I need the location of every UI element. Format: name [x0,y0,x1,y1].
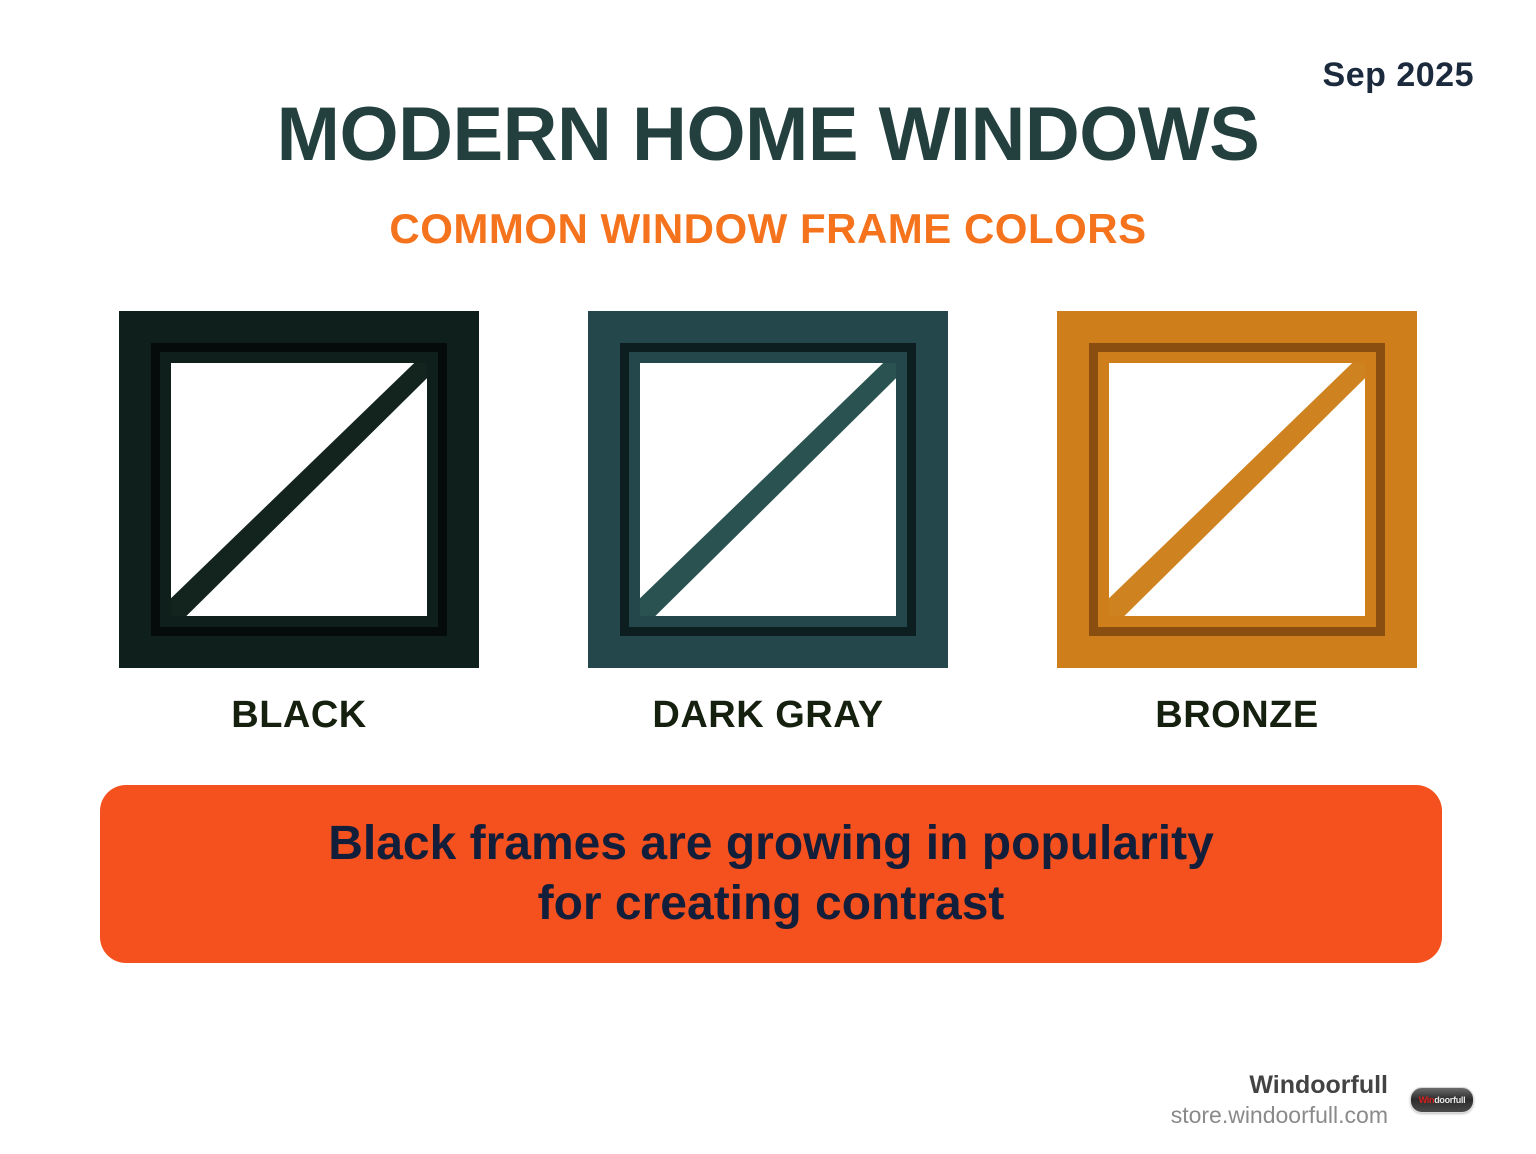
frame-label: DARK GRAY [652,694,883,737]
brand-logo-mark-accent: Win [1419,1095,1435,1105]
callout-line-2: for creating contrast [538,877,1005,930]
brand-logo-badge: Windoorfull [1410,1087,1474,1113]
brand-logo-mark: Windoorfull [1419,1096,1466,1105]
frame-sash [1105,359,1369,620]
diagonal-mullion-icon [171,363,427,616]
frame-sash [636,359,900,620]
diagonal-mullion-icon [640,363,896,616]
glass-pane [1109,363,1365,616]
frame-card-bronze: BRONZE [1057,311,1417,737]
glass-pane [640,363,896,616]
window-frame-icon [119,311,479,668]
frame-card-dark-gray: DARK GRAY [588,311,948,737]
brand-logo-mark-rest: doorfull [1434,1095,1465,1105]
frame-groove [151,343,447,636]
page-subtitle: COMMON WINDOW FRAME COLORS [0,206,1536,252]
glass-pane [171,363,427,616]
brand-name: Windoorfull [1171,1070,1388,1100]
frame-groove [1089,343,1385,636]
brand-url[interactable]: store.windoorfull.com [1171,1100,1388,1130]
page-title: MODERN HOME WINDOWS [0,94,1536,176]
diagonal-mullion-icon [1109,363,1365,616]
footer-text: Windoorfull store.windoorfull.com [1171,1070,1388,1130]
window-frame-icon [588,311,948,668]
frame-label: BRONZE [1155,694,1318,737]
callout-text: Black frames are growing in popularity f… [288,814,1254,934]
callout-banner: Black frames are growing in popularity f… [100,785,1442,963]
frame-groove [620,343,916,636]
callout-line-1: Black frames are growing in popularity [328,817,1214,870]
frame-card-black: BLACK [119,311,479,737]
frame-sash [167,359,431,620]
frame-label: BLACK [231,694,366,737]
date-stamp: Sep 2025 [1323,56,1474,95]
window-frame-icon [1057,311,1417,668]
footer-branding: Windoorfull store.windoorfull.com Windoo… [1171,1070,1474,1130]
frame-color-gallery: BLACK DARK GRAY [0,311,1536,751]
